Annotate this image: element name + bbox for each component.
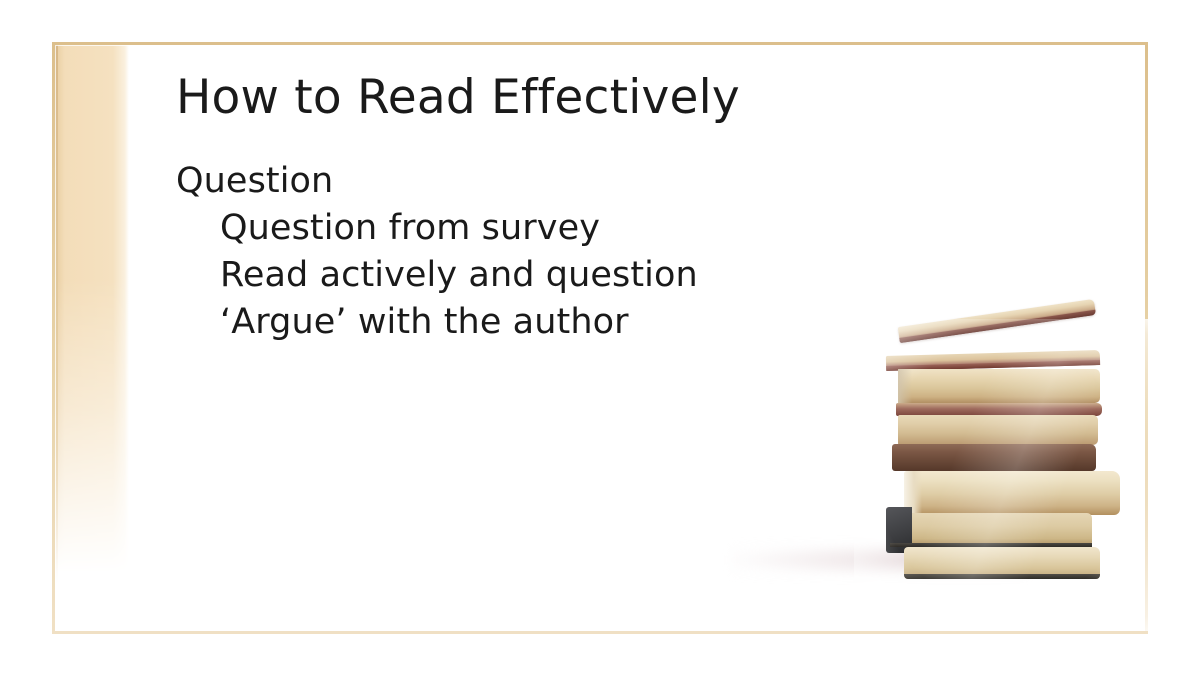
slide-title: How to Read Effectively — [176, 73, 740, 122]
bullet-level2-read-actively: Read actively and question — [220, 252, 698, 299]
presentation-slide: How to Read Effectively Question Questio… — [0, 0, 1200, 675]
book-8-dark-spine — [890, 513, 1092, 547]
decorative-side-band — [56, 45, 129, 631]
book-9-bottom-cream — [904, 547, 1100, 579]
book-7-cream-large — [904, 471, 1120, 515]
book-2-maroon — [886, 350, 1100, 371]
decorative-band-edge — [55, 45, 58, 631]
book-5-cream — [898, 415, 1098, 445]
book-1-top-tilted — [898, 299, 1096, 343]
bullet-level1-question: Question — [176, 158, 698, 205]
bullet-level2-argue-with-author: ‘Argue’ with the author — [220, 299, 698, 346]
stack-of-books-photo — [860, 325, 1150, 625]
book-6-dark-brown — [892, 444, 1096, 471]
slide-body-content: Question Question from survey Read activ… — [176, 158, 698, 346]
book-3-cream-thick — [898, 369, 1100, 403]
bullet-level2-question-from-survey: Question from survey — [220, 205, 698, 252]
